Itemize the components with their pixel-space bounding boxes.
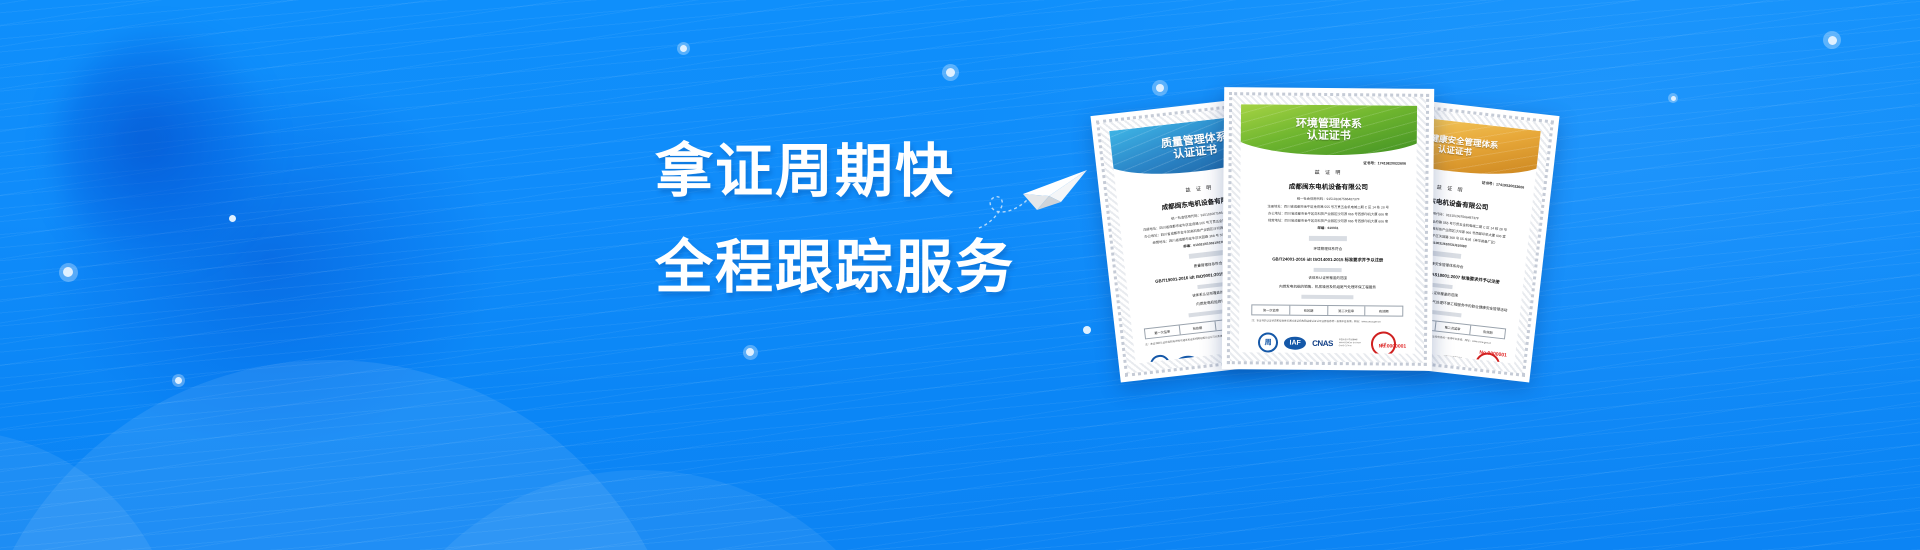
cnas-logo-icon: CNAS xyxy=(1312,339,1333,348)
dot-3 xyxy=(172,374,185,387)
address-row-2: 办公地址：四川省成都市金牛区高科技产业园区沙河源 666 号西部印机大厦 606… xyxy=(1240,210,1416,217)
certificate-sheet: 环境管理体系认证证书证书号：17419E20022606兹 证 明成都闽东电机设… xyxy=(1239,104,1417,354)
addr1: 四川省成都市金牛区金府路 555 号万贯五金机电城二期 C 区 14 栋 28 … xyxy=(1284,205,1389,210)
credit-code-row: 统一社会信用代码：91510106756648737F xyxy=(1240,195,1416,202)
standard-text: GB/T24001-2016 idt ISO14001:2015 标准要求并予以… xyxy=(1240,256,1416,264)
addr1-label: 注册地址： xyxy=(1267,204,1284,208)
scope-text: 内燃发电机组的销售、机房噪音及机组尾气处理环保工程服务 xyxy=(1239,284,1415,291)
dot-5 xyxy=(942,64,959,81)
audit-table-cell-3: 第二次监审 xyxy=(1328,306,1366,315)
cnas-caption: 中国认证认可管理体系MANAGEMENT SYSTEM CNAS C174-M xyxy=(1339,339,1365,348)
cnca-logo-icon: 周 xyxy=(1258,333,1278,353)
dot-1 xyxy=(229,215,236,222)
environmental-management-certificate[interactable]: 环境管理体系认证证书证书号：17419E20022606兹 证 明成都闽东电机设… xyxy=(1222,87,1434,371)
certify-label: 兹 证 明 xyxy=(1240,168,1416,177)
credit-code-label: 统一社会信用代码： xyxy=(1171,213,1201,220)
certificate-inner-border: 环境管理体系认证证书证书号：17419E20022606兹 证 明成都闽东电机设… xyxy=(1227,92,1429,366)
red-seal-stamp: 认证 xyxy=(1369,330,1397,354)
dot-7 xyxy=(1083,326,1091,334)
audit-table-cell-2: 有效期 xyxy=(1180,321,1216,334)
certificate-serial: No.0000001 xyxy=(1379,343,1407,349)
postcode-label: 邮编： xyxy=(1318,226,1328,230)
addr3: 四川省成都市金牛区高科技产业园区沙河源 666 号西部印机大厦 606 室 xyxy=(1284,219,1388,224)
audit-table-cell-1: 第一次监审 xyxy=(1253,305,1291,314)
paper-plane-icon xyxy=(975,150,1095,240)
postcode: 610031/610031/610083 xyxy=(1432,241,1467,249)
certificate-header: 环境管理体系认证证书 xyxy=(1239,104,1417,156)
audit-table-cell-2: 有效期 xyxy=(1290,306,1328,315)
audit-table-cell-4: 有效期 xyxy=(1365,306,1402,315)
redacted-bar-2 xyxy=(1314,268,1342,272)
addr1-label: 注册地址： xyxy=(1143,226,1160,232)
scope-label: 该体系认证所覆盖的范围 xyxy=(1240,275,1416,282)
blue-glow-blob xyxy=(55,35,270,265)
cnca-logo-icon: 周 xyxy=(1149,354,1171,364)
certificate-number: 证书号：17419E20022606 xyxy=(1363,161,1406,166)
redacted-bar-2 xyxy=(1197,282,1224,289)
postcode: 610031 xyxy=(1327,226,1338,230)
redacted-bar-1 xyxy=(1309,236,1348,241)
dot-4 xyxy=(677,42,690,55)
redacted-bar-3 xyxy=(1301,295,1354,299)
accreditation-logos: 周IAFCNAS中国认证认可管理体系MANAGEMENT SYSTEM CNAS… xyxy=(1239,330,1415,354)
audit-table: 第一次监审有效期第二次监审有效期 xyxy=(1252,304,1403,316)
certificate-title-line-2: 认证证书 xyxy=(1307,130,1351,143)
certificate-group: 质量管理体系认证证书证书号：17419Q20022606兹 证 明成都闽东电机设… xyxy=(1105,78,1575,398)
credit-code-label: 统一社会信用代码： xyxy=(1297,197,1327,201)
addr2-label: 办公地址： xyxy=(1268,211,1285,215)
addr2-label: 办公地址： xyxy=(1144,233,1161,239)
cnas-caption: 中国认证认可管理体系MANAGEMENT SYSTEM CNAS C174-M xyxy=(1443,356,1470,364)
dot-10 xyxy=(1823,31,1841,49)
address-row-1: 注册地址：四川省成都市金牛区金府路 555 号万贯五金机电城二期 C 区 14 … xyxy=(1240,203,1416,210)
certificate-note: 注：本证书的认证状态和有效性可通过发证机构网站或认证认可业务信息统一查询平台查询… xyxy=(1251,319,1402,324)
iaf-logo-icon: IAF xyxy=(1175,354,1198,363)
promo-banner: 拿证周期快 全程跟踪服务 质量管理体系认证证书证书号：17419Q2002260… xyxy=(0,0,1920,550)
postcode-row: 邮编：610031 xyxy=(1240,224,1416,231)
headline-line-2: 全程跟踪服务 xyxy=(655,228,1035,308)
addr3-label: 经营地址： xyxy=(1152,239,1169,245)
addr3-label: 经营地址： xyxy=(1268,218,1285,222)
audit-table-cell-1: 第一次监审 xyxy=(1145,325,1181,338)
addr2: 四川省成都市金牛区高科技产业园区沙河源 666 号西部印机大厦 606 室 xyxy=(1285,212,1389,217)
dot-2 xyxy=(59,263,78,282)
audit-table-cell-4: 有效期 xyxy=(1470,326,1505,339)
dot-9 xyxy=(1668,93,1678,103)
certificate-title-line-1: 环境管理体系 xyxy=(1296,117,1362,130)
dot-6 xyxy=(743,345,758,360)
address-row-3: 经营地址：四川省成都市金牛区高科技产业园区沙河源 666 号西部印机大厦 606… xyxy=(1240,217,1416,224)
audit-table-cell-3: 第二次监审 xyxy=(1435,322,1471,335)
credit-code: 91510106756648737F xyxy=(1326,197,1359,201)
postcode-label: 邮编： xyxy=(1183,243,1193,248)
iaf-logo-icon: IAF xyxy=(1284,336,1306,349)
company-name: 成都闽东电机设备有限公司 xyxy=(1240,180,1416,192)
redacted-bar-1 xyxy=(1188,250,1225,259)
system-label: 环境管理体系符合 xyxy=(1240,246,1416,253)
